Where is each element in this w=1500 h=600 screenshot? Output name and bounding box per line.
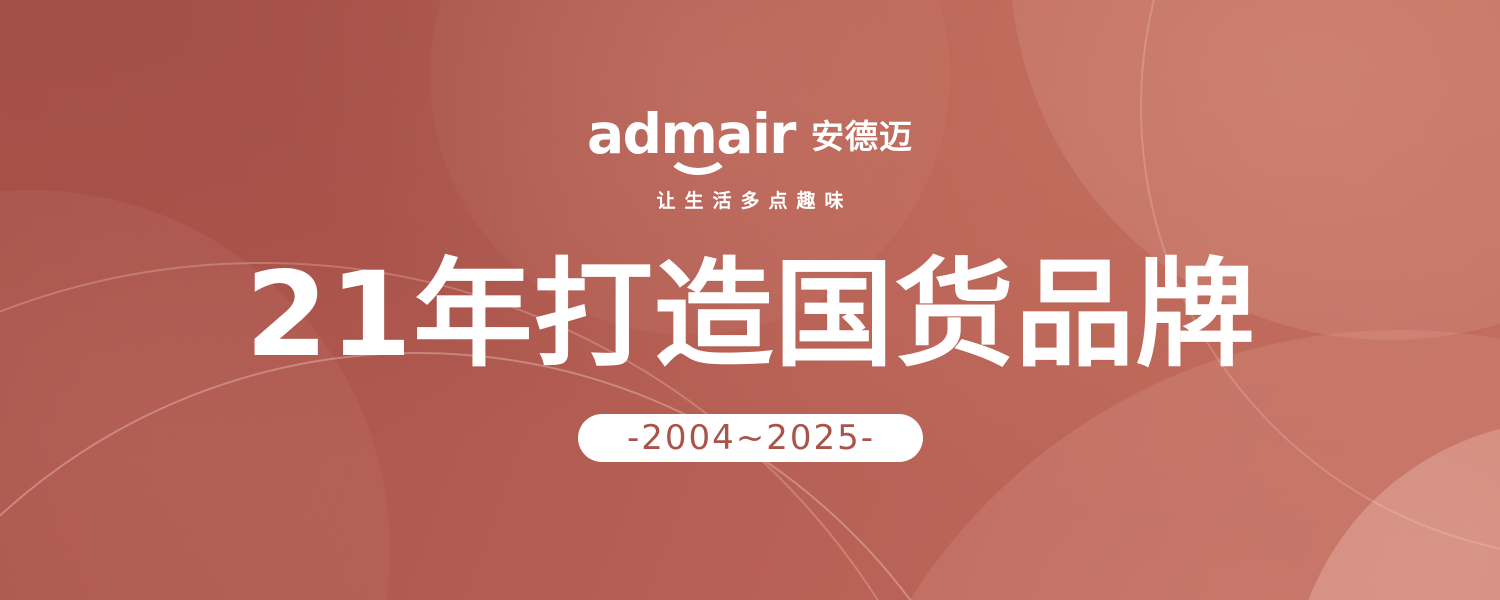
banner-content: admair 安德迈 让生活多点趣味 21年打造国货品牌 -2004~2025- xyxy=(0,0,1500,600)
brand-chinese-name: 安德迈 xyxy=(811,119,913,159)
year-range-badge: -2004~2025- xyxy=(578,414,923,462)
headline-title: 21年打造国货品牌 xyxy=(245,255,1256,375)
brand-wordmark: admair xyxy=(587,109,795,159)
brand-banner: admair 安德迈 让生活多点趣味 21年打造国货品牌 -2004~2025- xyxy=(0,0,1500,600)
smile-curve-icon xyxy=(665,147,731,175)
brand-logo-lockup: admair 安德迈 xyxy=(587,101,913,159)
brand-tagline: 让生活多点趣味 xyxy=(647,189,852,213)
